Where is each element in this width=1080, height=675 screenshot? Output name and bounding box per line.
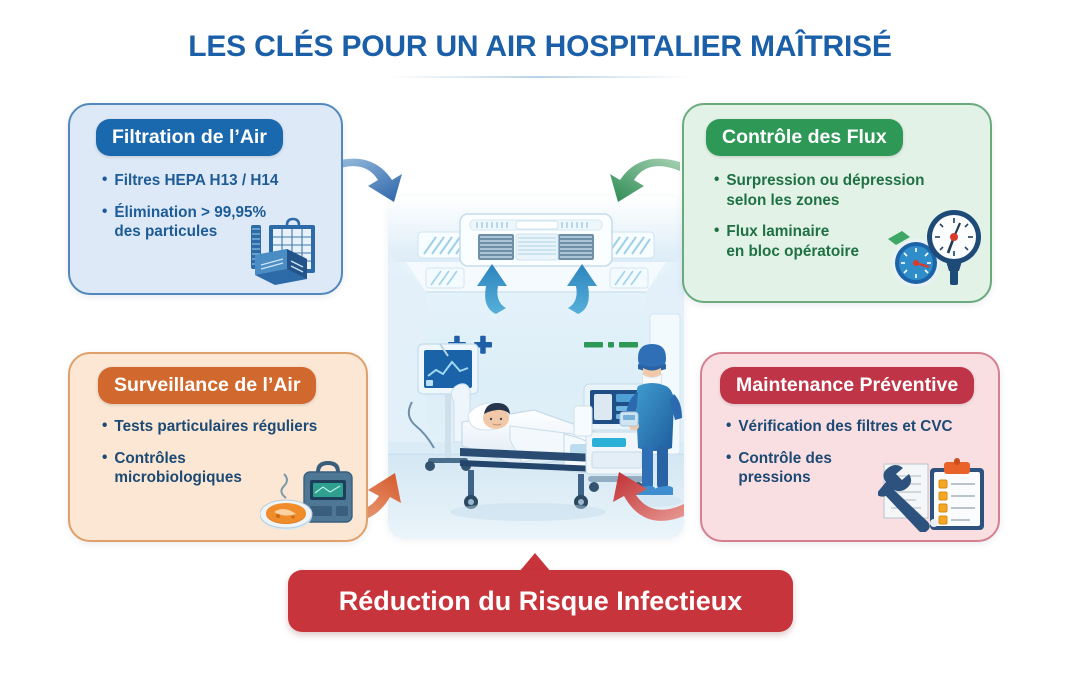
- list-item: • Tests particulaires réguliers: [102, 417, 352, 437]
- bullet-text: Contrôle des pressions: [738, 449, 832, 488]
- bullet-text: Flux laminaire en bloc opératoire: [726, 222, 859, 261]
- card-filtration-header: Filtration de l’Air: [96, 119, 283, 156]
- card-filtration[interactable]: Filtration de l’Air • Filtres HEPA H13 /…: [68, 103, 343, 295]
- card-surveillance-header: Surveillance de l’Air: [98, 367, 316, 404]
- card-maintenance[interactable]: Maintenance Préventive • Vérification de…: [700, 352, 1000, 542]
- negative-pressure-symbol: [584, 342, 638, 348]
- petri-dish-sampler-icon: [260, 460, 360, 536]
- bullet-text: Vérification des filtres et CVC: [738, 417, 952, 437]
- arrow-flux-to-room: [590, 148, 682, 218]
- bullet-text: Élimination > 99,95% des particules: [114, 203, 266, 242]
- list-item: • Vérification des filtres et CVC: [726, 417, 976, 437]
- card-surveillance[interactable]: Surveillance de l’Air • Tests particulai…: [68, 352, 368, 542]
- bullet-text: Tests particulaires réguliers: [114, 417, 317, 437]
- outcome-banner: Réduction du Risque Infectieux: [288, 570, 793, 632]
- arrow-filtration-to-room: [330, 148, 420, 218]
- bullet-dot: •: [714, 222, 719, 261]
- bullet-dot: •: [102, 449, 107, 488]
- bullet-text: Contrôles microbiologiques: [114, 449, 241, 488]
- card-flux-header: Contrôle des Flux: [706, 119, 903, 156]
- bullet-text: Filtres HEPA H13 / H14: [114, 171, 278, 191]
- hepa-filter-icon: [249, 217, 333, 287]
- bullet-dot: •: [714, 171, 719, 210]
- bullet-dot: •: [726, 449, 731, 488]
- bullet-dot: •: [102, 203, 107, 242]
- bullet-dot: •: [726, 417, 731, 437]
- arrow-maintenance-to-room: [588, 452, 686, 532]
- card-flux[interactable]: Contrôle des Flux • Surpression ou dépre…: [682, 103, 992, 303]
- wrench-checklist-icon: [878, 452, 990, 532]
- title-divider: [390, 76, 690, 78]
- pressure-gauge-icon: [888, 201, 984, 293]
- ceiling-hvac-unit: [460, 214, 612, 266]
- list-item: • Filtres HEPA H13 / H14: [102, 171, 327, 191]
- bullet-dot: •: [102, 417, 107, 437]
- page-title: LES CLÉS POUR UN AIR HOSPITALIER MAÎTRIS…: [0, 30, 1080, 64]
- bullet-dot: •: [102, 171, 107, 191]
- card-maintenance-header: Maintenance Préventive: [720, 367, 974, 404]
